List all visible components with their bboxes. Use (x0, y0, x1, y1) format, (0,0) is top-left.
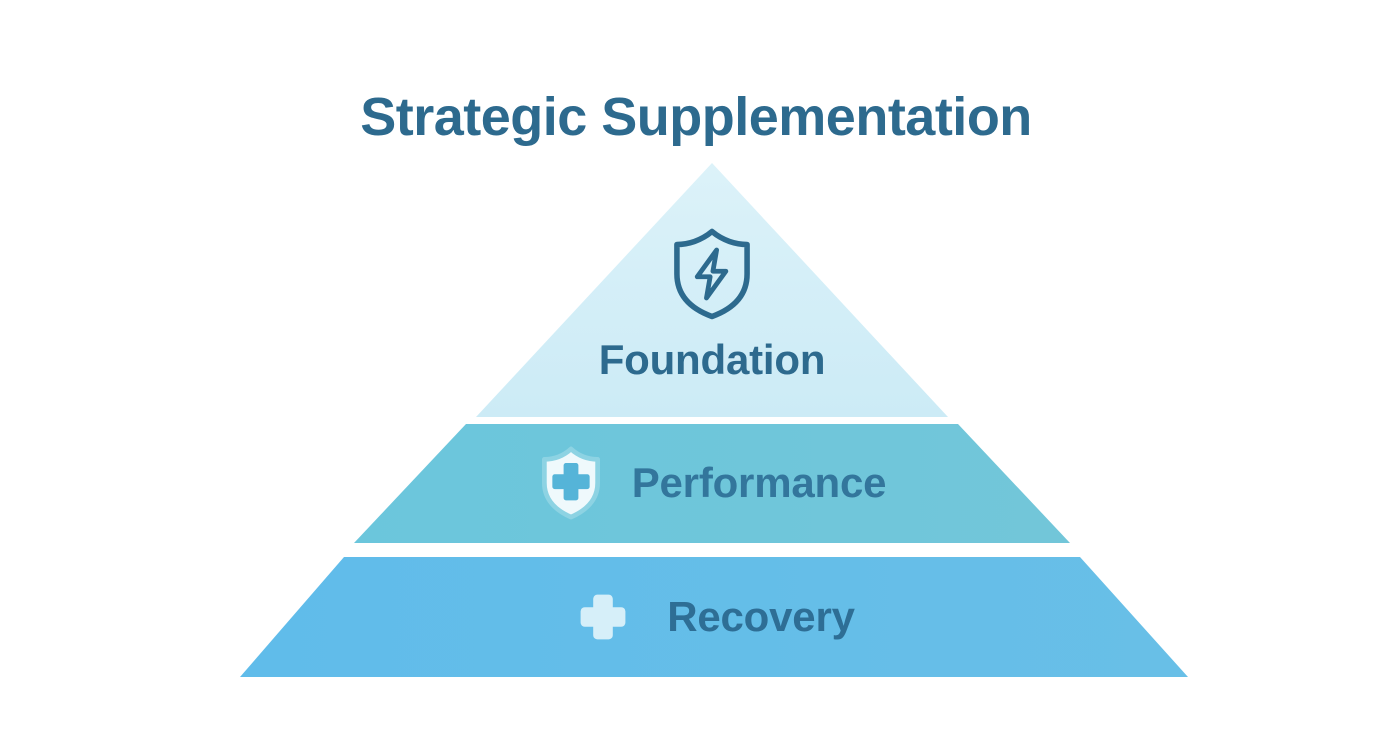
pyramid-shapes (0, 0, 1392, 752)
pyramid-tier-recovery[interactable] (240, 557, 1188, 677)
pyramid-tier-performance[interactable] (354, 424, 1070, 543)
pyramid-tier-foundation[interactable] (476, 163, 948, 417)
diagram-canvas: Strategic Supplementation (0, 0, 1392, 752)
pyramid-diagram: Foundation Performance Recovery (0, 0, 1392, 752)
